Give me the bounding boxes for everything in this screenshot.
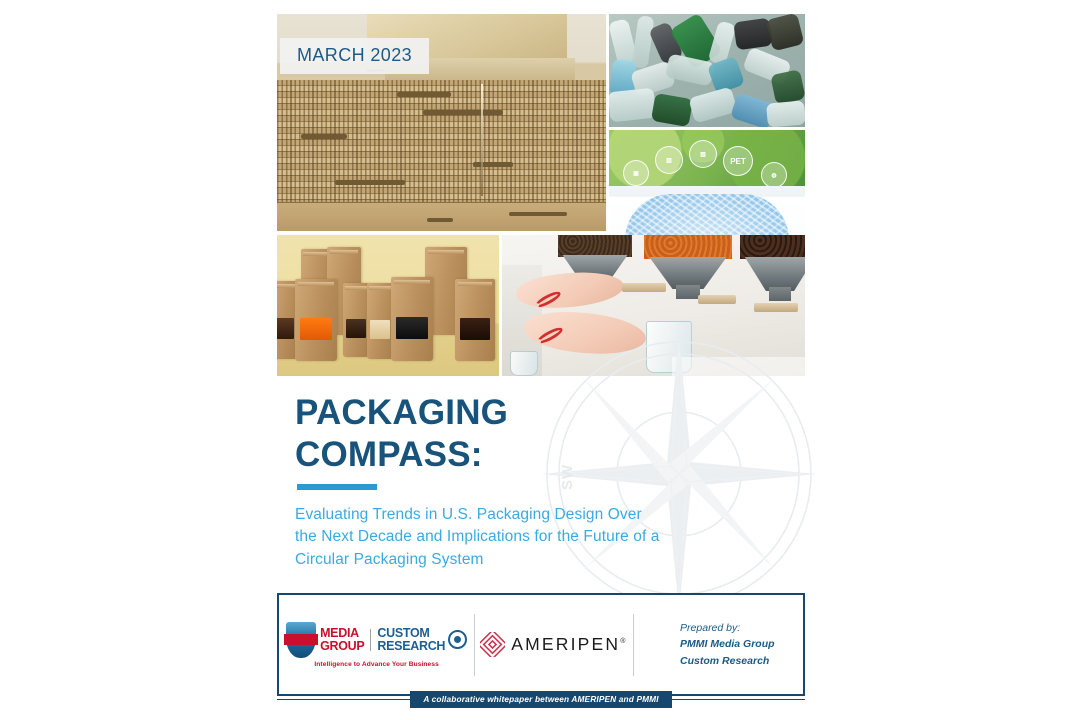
logo-divider	[370, 629, 371, 651]
photo-kraft-stand-up-pouches	[277, 235, 499, 376]
prepared-by-division: Custom Research	[680, 653, 775, 670]
title-line-2: COMPASS:	[295, 434, 735, 476]
subtitle-line-1: Evaluating Trends in U.S. Packaging Desi…	[295, 504, 735, 526]
subtitle-line-2: the Next Decade and Implications for the…	[295, 526, 735, 548]
ameripen-diamond-icon	[480, 632, 505, 657]
prepared-by-label: Prepared by:	[680, 620, 775, 637]
cover-photo-grid: ▣ ▥ ▨ PET ◍	[277, 14, 805, 376]
flake-icon: ▨	[689, 140, 717, 168]
globe-icon: ◍	[761, 162, 787, 188]
photo-bulk-food-dispensers	[502, 235, 805, 376]
photo-recycled-glass-bottles	[609, 14, 805, 127]
pmmi-group-label: GROUP	[320, 640, 364, 653]
pmmi-media-label: MEDIA	[320, 627, 364, 640]
banner-line-left	[277, 699, 410, 700]
cup-icon: ▣	[623, 160, 649, 186]
ameripen-wordmark: AMERIPEN®	[511, 634, 627, 655]
pmmi-shield-text: PMMI	[288, 635, 315, 646]
bale-icon: ▥	[655, 146, 683, 174]
photo-pet-recycling-icons: ▣ ▥ ▨ PET ◍	[609, 130, 805, 244]
prepared-by-block: Prepared by: PMMI Media Group Custom Res…	[634, 620, 803, 670]
page-subtitle: Evaluating Trends in U.S. Packaging Desi…	[295, 504, 735, 570]
pmmi-tagline: Intelligence to Advance Your Business	[314, 661, 439, 668]
pmmi-shield-icon: PMMI	[286, 622, 316, 658]
banner-text: A collaborative whitepaper between AMERI…	[410, 691, 671, 708]
footer-logo-box: PMMI MEDIA GROUP CUSTOM RESEARCH Intelli…	[277, 593, 805, 696]
title-block: PACKAGING COMPASS: Evaluating Trends in …	[295, 392, 735, 571]
pmmi-media-group-logo[interactable]: PMMI MEDIA GROUP CUSTOM RESEARCH Intelli…	[279, 622, 474, 668]
title-accent-rule	[297, 484, 377, 490]
document-cover-page: ▣ ▥ ▨ PET ◍	[277, 0, 805, 720]
title-line-1: PACKAGING	[295, 393, 508, 432]
collaboration-banner: A collaborative whitepaper between AMERI…	[277, 688, 805, 710]
ameripen-logo[interactable]: AMERIPEN®	[474, 614, 633, 676]
ameripen-trademark: ®	[620, 638, 627, 645]
pmmi-research-label: RESEARCH	[377, 640, 445, 653]
pmmi-custom-label: CUSTOM	[377, 627, 445, 640]
target-icon	[448, 630, 467, 649]
date-badge: MARCH 2023	[280, 38, 429, 74]
subtitle-line-3: Circular Packaging System	[295, 549, 735, 571]
prepared-by-org: PMMI Media Group	[680, 636, 775, 653]
pet-label-icon: PET	[723, 146, 753, 176]
banner-line-right	[672, 699, 805, 700]
page-title: PACKAGING COMPASS:	[295, 392, 735, 475]
